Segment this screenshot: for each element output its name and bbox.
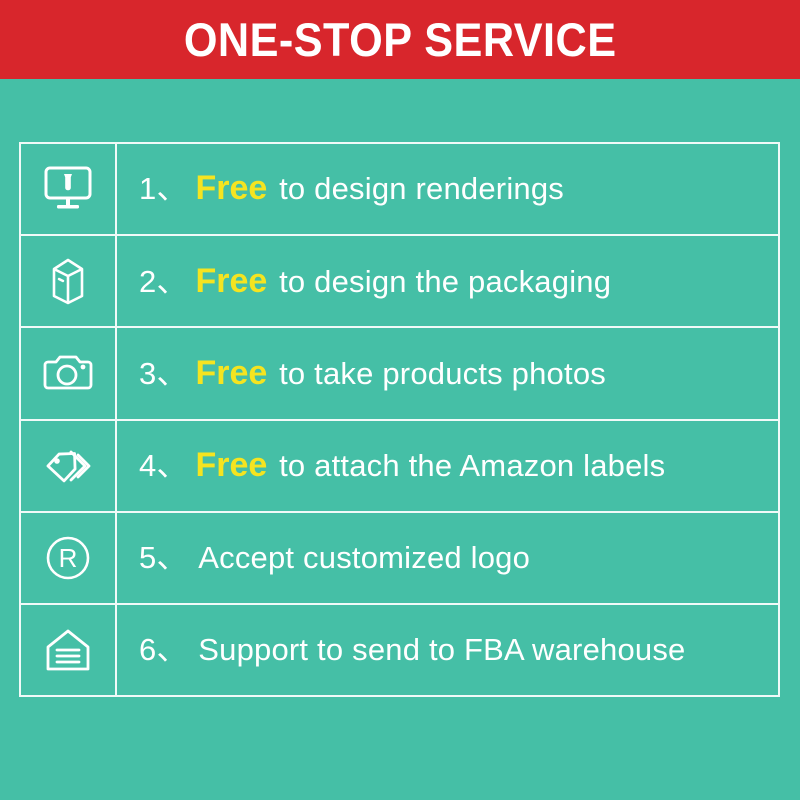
icon-cell (21, 605, 117, 695)
row-highlight: Free (189, 262, 270, 300)
row-highlight: Free (189, 169, 270, 207)
table-row: R 5、 Accept customized logo (21, 513, 778, 605)
row-number: 3 (139, 356, 156, 391)
icon-cell (21, 144, 117, 234)
monitor-rendering-icon (42, 165, 94, 213)
row-text: 3、Free to take products photos (139, 355, 606, 392)
row-label: to take products photos (270, 356, 606, 391)
warehouse-icon (43, 626, 93, 674)
table-row: 6、 Support to send to FBA warehouse (21, 605, 778, 695)
package-box-icon (46, 255, 90, 307)
icon-cell: R (21, 513, 117, 603)
row-label: to design renderings (270, 171, 564, 206)
text-cell: 1、Free to design renderings (117, 144, 778, 234)
row-separator: 、 (156, 264, 189, 299)
row-label: to design the packaging (270, 264, 611, 299)
row-number: 4 (139, 448, 156, 483)
row-highlight: Free (189, 446, 270, 484)
row-text: 2、Free to design the packaging (139, 263, 611, 300)
row-text: 1、Free to design renderings (139, 170, 564, 207)
table-row: 3、Free to take products photos (21, 328, 778, 420)
camera-icon (41, 351, 95, 395)
row-highlight: Free (189, 354, 270, 392)
price-tags-icon (40, 442, 96, 490)
icon-cell (21, 236, 117, 326)
row-number: 5 (139, 540, 156, 575)
row-text: 4、Free to attach the Amazon labels (139, 447, 665, 484)
icon-cell (21, 421, 117, 511)
row-text: 6、 Support to send to FBA warehouse (139, 633, 685, 667)
row-label: Support to send to FBA warehouse (189, 632, 685, 667)
text-cell: 3、Free to take products photos (117, 328, 778, 418)
page-title: ONE-STOP SERVICE (184, 16, 617, 63)
row-label: Accept customized logo (189, 540, 530, 575)
text-cell: 6、 Support to send to FBA warehouse (117, 605, 778, 695)
table-row: 4、Free to attach the Amazon labels (21, 421, 778, 513)
row-separator: 、 (156, 171, 189, 206)
row-separator: 、 (156, 356, 189, 391)
header-banner: ONE-STOP SERVICE (0, 0, 800, 79)
row-label: to attach the Amazon labels (270, 448, 665, 483)
table-row: 1、Free to design renderings (21, 144, 778, 236)
row-separator: 、 (156, 632, 189, 667)
row-number: 2 (139, 264, 156, 299)
table-row: 2、Free to design the packaging (21, 236, 778, 328)
row-separator: 、 (156, 540, 189, 575)
row-separator: 、 (156, 448, 189, 483)
row-text: 5、 Accept customized logo (139, 541, 530, 575)
icon-cell (21, 328, 117, 418)
text-cell: 5、 Accept customized logo (117, 513, 778, 603)
registered-trademark-icon: R (43, 533, 93, 583)
row-number: 1 (139, 171, 156, 206)
row-number: 6 (139, 632, 156, 667)
one-stop-service-poster: ONE-STOP SERVICE 1、Free to design render… (0, 0, 800, 800)
svg-text:R: R (59, 543, 78, 573)
service-list-table: 1、Free to design renderings 2、Free t (19, 142, 780, 697)
text-cell: 4、Free to attach the Amazon labels (117, 421, 778, 511)
text-cell: 2、Free to design the packaging (117, 236, 778, 326)
